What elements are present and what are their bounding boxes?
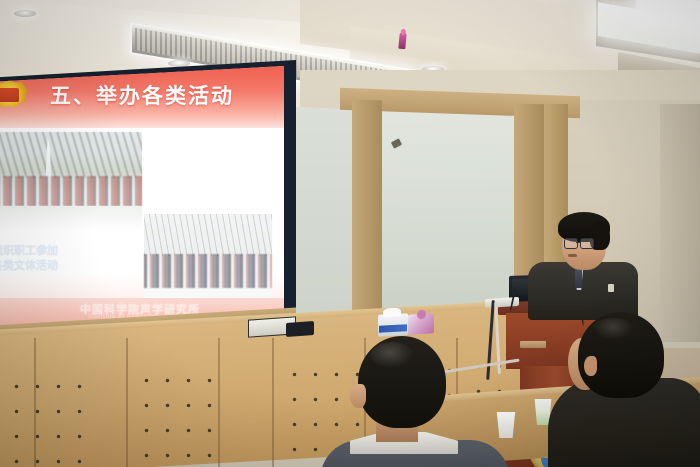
conference-room-photo: 组织职工参加 各类文体活动 五、举办各类活动 中国科学院声学研究所 Instit…: [0, 0, 700, 467]
slide-ghost-text: 组织职工参加 各类文体活动: [0, 244, 152, 274]
acoustic-perforation-grid: [0, 368, 92, 467]
audience-1-hair-sheen: [370, 342, 414, 368]
wood-panel-seam: [126, 338, 128, 467]
photo-crowd: [0, 176, 142, 206]
glasses-bridge: [576, 242, 581, 243]
wall-panel-grey: [380, 107, 515, 322]
downlight-2: [168, 60, 190, 67]
wall-trim-left: [352, 100, 382, 333]
desk-device: [286, 321, 314, 337]
audience-2-hair-sheen: [592, 318, 634, 340]
presenter-mouth: [568, 254, 577, 257]
ribbon-wrapped-gift: [408, 313, 434, 334]
slide-title: 五、举办各类活动: [50, 80, 234, 110]
slide-ghost-line-2: 各类文体活动: [0, 259, 152, 274]
presenter-at-podium: [528, 212, 638, 317]
photo-snow: [0, 206, 142, 232]
monument-crowd-photo: [0, 132, 142, 232]
wood-panel-seam: [272, 338, 274, 467]
downlight-1: [14, 10, 36, 17]
glasses-icon: [564, 238, 594, 247]
audience-2-ear: [584, 356, 597, 376]
pink-hanging-tag: [398, 33, 406, 50]
audience-member-dark-jacket: [556, 312, 700, 467]
photo-bare-branches: [144, 214, 272, 256]
right-wall-corner: [660, 104, 700, 342]
wall-panel-grey-left: [292, 107, 354, 331]
gold-emblem-icon: [0, 80, 28, 110]
photo-trees: [0, 132, 142, 178]
audience-1-ear: [350, 384, 366, 408]
presenter-badge: [608, 284, 614, 292]
audience-member-grey-suit: [320, 336, 502, 467]
photo-people-line: [144, 254, 272, 288]
tissue-box-band: [379, 324, 407, 332]
podium-nameplate: [520, 341, 546, 348]
acoustic-perforation-grid: [130, 362, 222, 467]
walking-line-photo: [144, 214, 272, 302]
slide-ghost-line-1: 组织职工参加: [0, 244, 152, 259]
projection-screen: 组织职工参加 各类文体活动 五、举办各类活动 中国科学院声学研究所 Instit…: [0, 66, 284, 332]
